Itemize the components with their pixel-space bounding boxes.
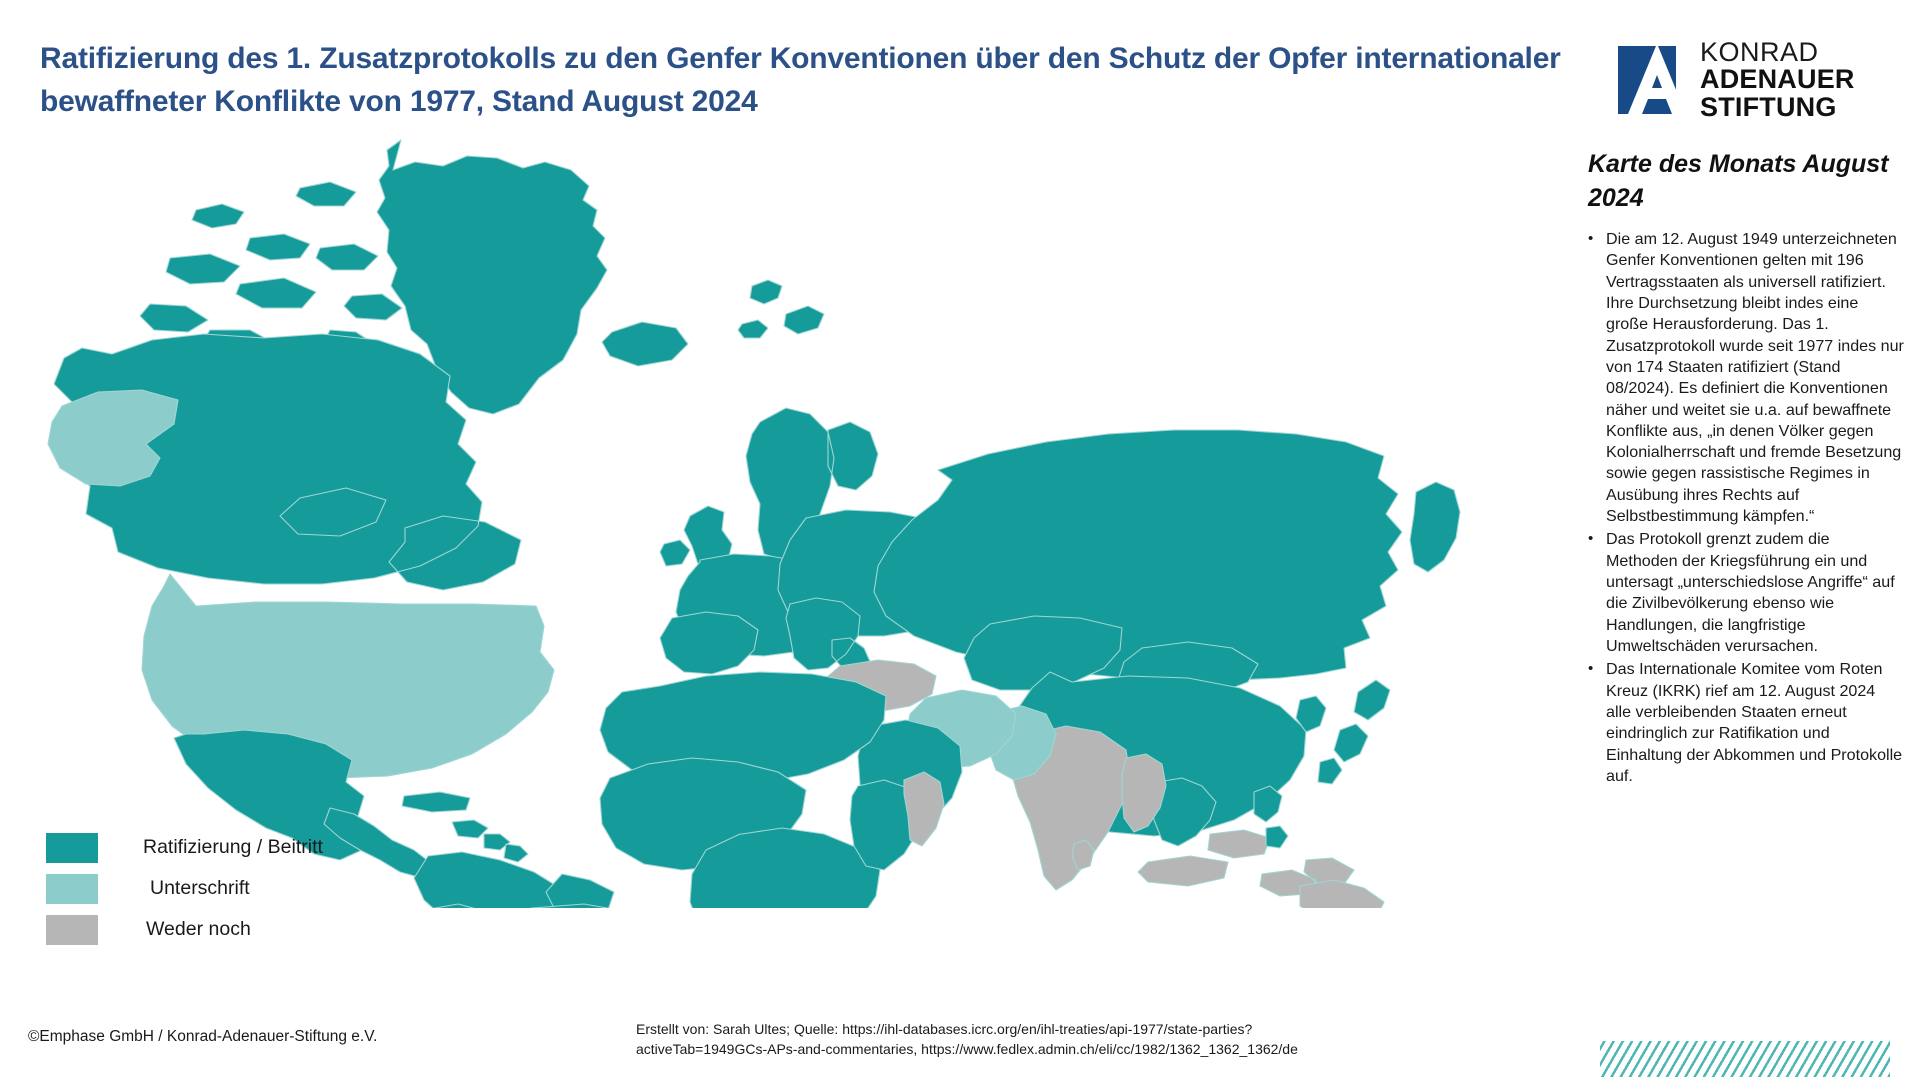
logo-line-stiftung: STIFTUNG: [1700, 94, 1855, 122]
list-item-text: Das Protokoll grenzt zudem die Methoden …: [1606, 529, 1904, 657]
list-item: • Das Internationale Komitee vom Roten K…: [1588, 659, 1904, 787]
copyright-text: ©Emphase GmbH / Konrad-Adenauer-Stiftung…: [28, 1028, 377, 1046]
kas-logo: KONRAD ADENAUER STIFTUNG: [1618, 34, 1908, 126]
bullet-glyph-icon: •: [1588, 529, 1596, 657]
sidebar-bullet-list: • Die am 12. August 1949 unterzeichneten…: [1588, 229, 1904, 787]
kas-logo-mark-icon: [1618, 40, 1688, 120]
region-iceland: [602, 322, 688, 366]
region-caribbean: [402, 792, 528, 862]
list-item: • Die am 12. August 1949 unterzeichneten…: [1588, 229, 1904, 527]
map-legend: Ratifizierung / Beitritt Unterschrift We…: [46, 827, 323, 950]
logo-line-konrad: KONRAD: [1700, 39, 1855, 67]
country-russia: [874, 430, 1402, 680]
list-item-text: Die am 12. August 1949 unterzeichneten G…: [1606, 229, 1904, 527]
region-iberia: [660, 612, 758, 674]
kas-logo-wordmark: KONRAD ADENAUER STIFTUNG: [1700, 39, 1855, 122]
country-papua-new-guinea: [1300, 880, 1384, 908]
legend-label-signed: Unterschrift: [150, 877, 250, 900]
country-guianas: [546, 874, 614, 908]
region-svalbard: [738, 280, 824, 338]
map-poster: Ratifizierung des 1. Zusatzprotokolls zu…: [0, 0, 1920, 1080]
hatched-decoration: [1600, 1041, 1890, 1077]
legend-swatch-neither: [46, 915, 98, 945]
legend-swatch-ratified: [46, 833, 98, 863]
country-japan: [1318, 680, 1390, 784]
legend-item-neither: Weder noch: [46, 909, 323, 950]
sidebar: Karte des Monats August 2024 • Die am 12…: [1588, 148, 1904, 789]
source-citation: Erstellt von: Sarah Ultes; Quelle: https…: [636, 1020, 1298, 1060]
sidebar-heading: Karte des Monats August 2024: [1588, 148, 1904, 215]
source-line-2: activeTab=1949GCs-APs-and-commentaries, …: [636, 1040, 1298, 1060]
legend-label-ratified: Ratifizierung / Beitritt: [143, 836, 323, 859]
legend-item-signed: Unterschrift: [46, 868, 323, 909]
legend-swatch-signed: [46, 874, 98, 904]
logo-line-adenauer: ADENAUER: [1700, 66, 1855, 94]
country-somalia: [904, 772, 944, 846]
legend-label-neither: Weder noch: [146, 918, 251, 941]
region-kamchatka: [1410, 482, 1460, 572]
page-title: Ratifizierung des 1. Zusatzprotokolls zu…: [40, 38, 1570, 123]
world-map: [0, 118, 1560, 908]
bullet-glyph-icon: •: [1588, 229, 1596, 527]
list-item-text: Das Internationale Komitee vom Roten Kre…: [1606, 659, 1904, 787]
legend-item-ratified: Ratifizierung / Beitritt: [46, 827, 323, 868]
list-item: • Das Protokoll grenzt zudem die Methode…: [1588, 529, 1904, 657]
bullet-glyph-icon: •: [1588, 659, 1596, 787]
world-map-svg: [0, 118, 1560, 908]
country-colombia-venezuela: [414, 852, 560, 908]
source-line-1: Erstellt von: Sarah Ultes; Quelle: https…: [636, 1020, 1298, 1040]
